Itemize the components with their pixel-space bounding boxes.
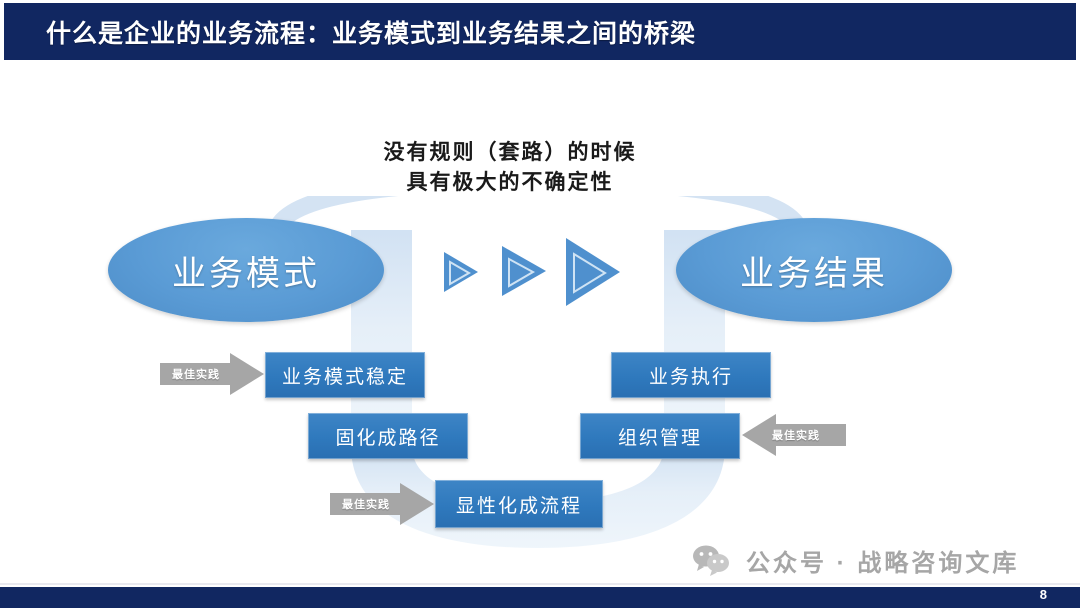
triangle-small-icon	[444, 252, 478, 292]
slide-canvas: 什么是企业的业务流程：业务模式到业务结果之间的桥梁 没有规则（套路）的时候 具有…	[0, 0, 1080, 608]
best-practice-arrow-right-label: 最佳实践	[772, 427, 820, 443]
step-box-organization-management-label: 组织管理	[618, 423, 702, 450]
page-title: 什么是企业的业务流程：业务模式到业务结果之间的桥梁	[46, 14, 696, 50]
best-practice-arrow-left-top: 最佳实践	[160, 352, 264, 396]
step-box-explicit-process: 显性化成流程	[435, 480, 603, 528]
slide-footer-bar	[0, 585, 1080, 608]
subtitle-line-2: 具有极大的不确定性	[0, 168, 1020, 198]
watermark-text: 公众号 · 战略咨询文库	[746, 543, 1019, 578]
step-box-business-model-stable-label: 业务模式稳定	[282, 362, 408, 389]
slide-title-bar: 什么是企业的业务流程：业务模式到业务结果之间的桥梁	[4, 3, 1076, 60]
triangle-large-icon	[566, 238, 620, 306]
step-box-solidify-path: 固化成路径	[308, 413, 468, 459]
page-number: 8	[1040, 587, 1047, 602]
best-practice-arrow-right: 最佳实践	[742, 413, 846, 457]
step-box-organization-management: 组织管理	[580, 413, 740, 459]
step-box-explicit-process-label: 显性化成流程	[456, 491, 582, 518]
ellipse-business-result: 业务结果	[676, 218, 952, 322]
step-box-solidify-path-label: 固化成路径	[335, 423, 440, 450]
ellipse-business-model: 业务模式	[108, 218, 384, 322]
step-box-business-execution-label: 业务执行	[649, 362, 733, 389]
ellipse-business-result-label: 业务结果	[740, 246, 888, 295]
wechat-icon	[692, 544, 732, 576]
triangle-medium-icon	[502, 246, 546, 296]
subtitle-block: 没有规则（套路）的时候 具有极大的不确定性	[0, 138, 1020, 198]
progress-triangles-group	[430, 230, 630, 315]
best-practice-arrow-left-top-label: 最佳实践	[172, 366, 220, 382]
best-practice-arrow-left-bottom-label: 最佳实践	[342, 496, 390, 512]
watermark: 公众号 · 战略咨询文库	[692, 540, 1019, 580]
step-box-business-model-stable: 业务模式稳定	[265, 352, 425, 398]
step-box-business-execution: 业务执行	[611, 352, 771, 398]
ellipse-business-model-label: 业务模式	[172, 246, 320, 295]
best-practice-arrow-left-bottom: 最佳实践	[330, 482, 434, 526]
subtitle-line-1: 没有规则（套路）的时候	[0, 138, 1020, 168]
